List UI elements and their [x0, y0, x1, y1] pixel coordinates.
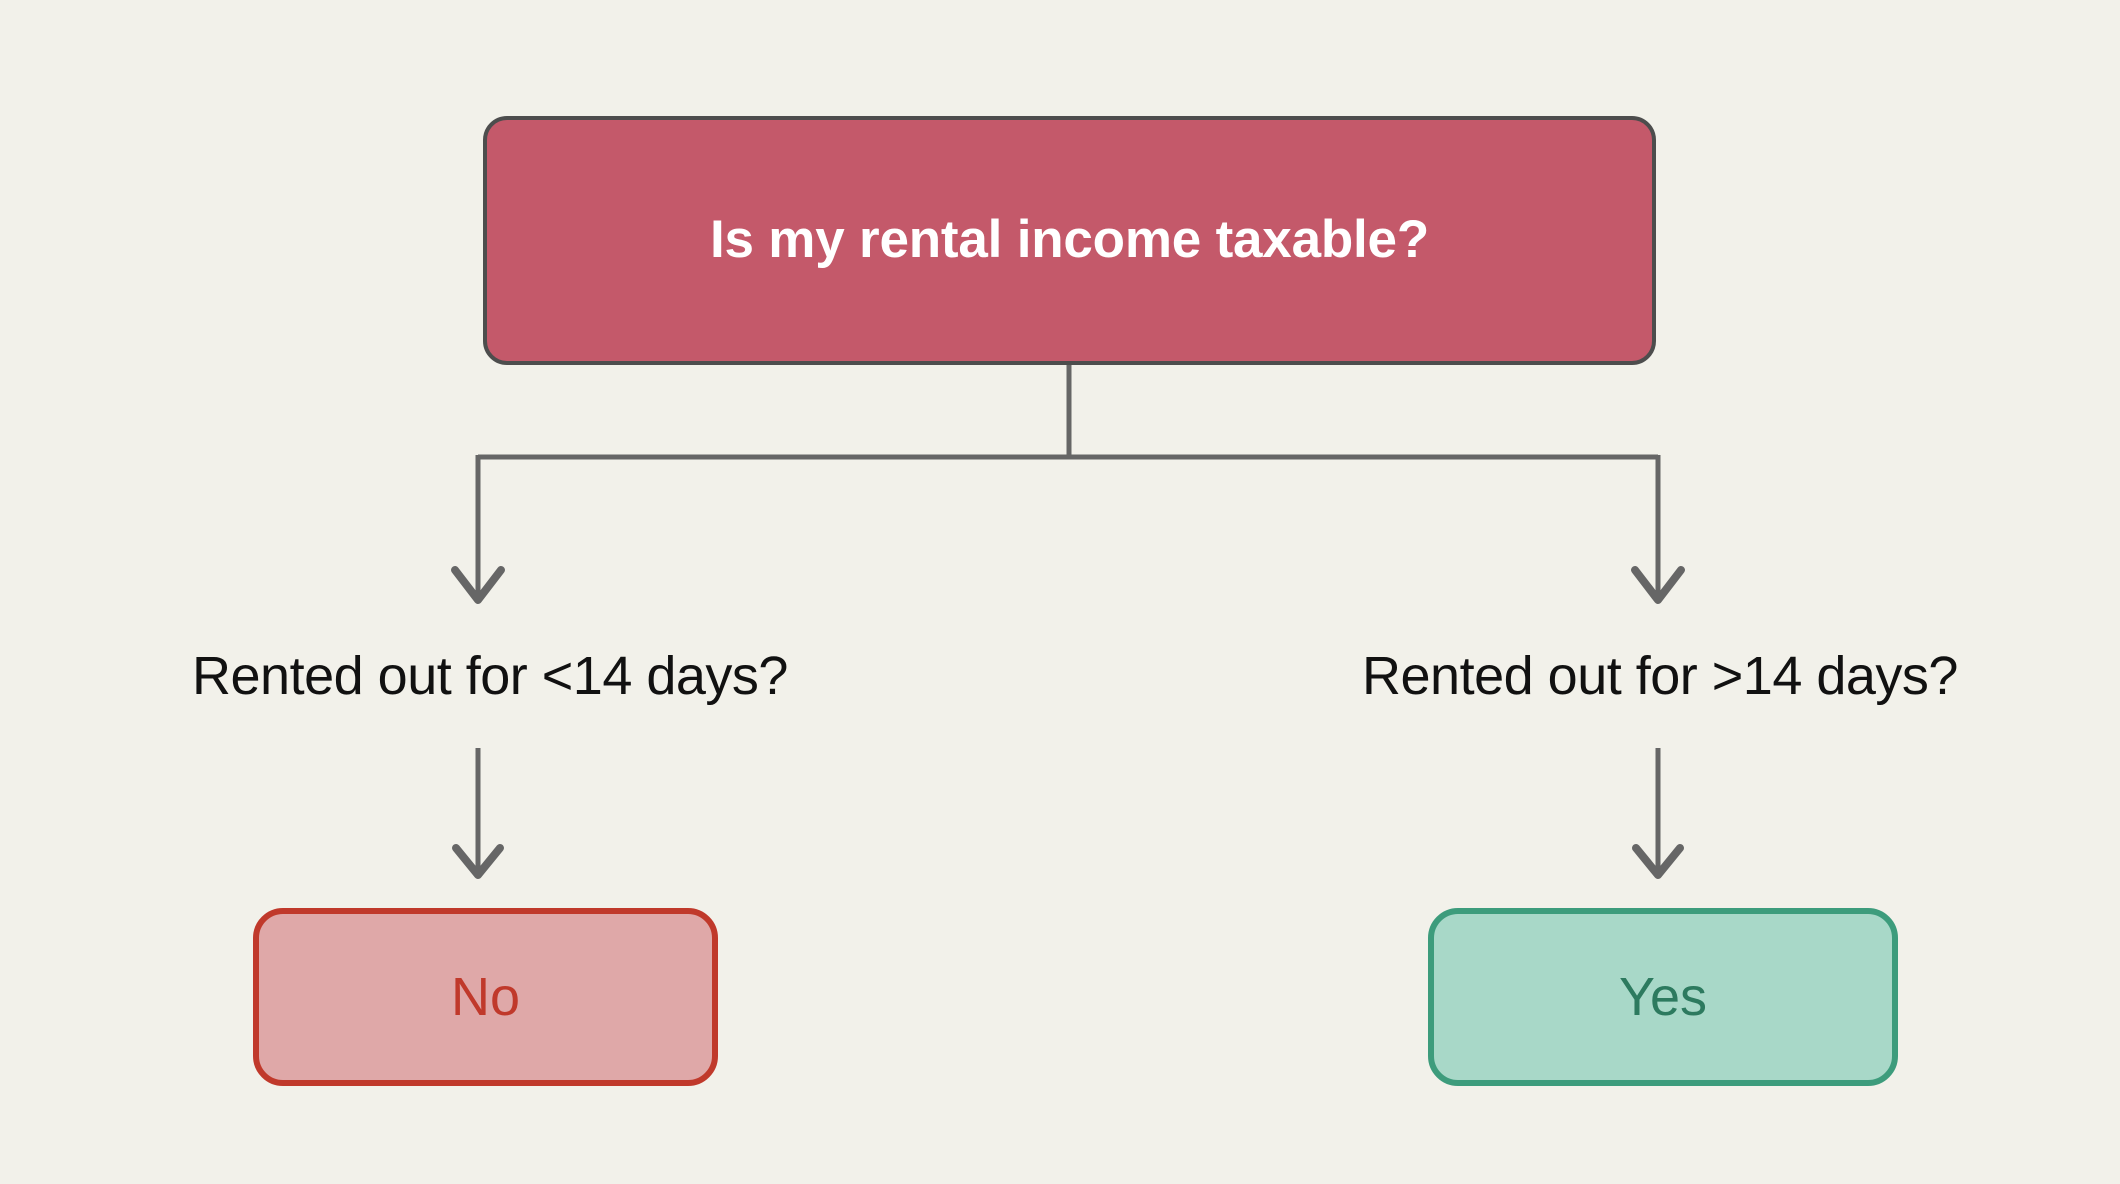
left-condition-label: Rented out for <14 days?	[0, 645, 980, 707]
right-answer-arrowhead-icon	[1636, 848, 1680, 875]
flowchart-canvas: Is my rental income taxable? Rented out …	[0, 0, 2120, 1184]
answer-node-no[interactable]: No	[253, 908, 718, 1086]
question-node[interactable]: Is my rental income taxable?	[483, 116, 1656, 365]
answer-node-no-label: No	[451, 966, 520, 1028]
right-branch-arrowhead-icon	[1635, 570, 1681, 600]
question-node-label: Is my rental income taxable?	[710, 211, 1429, 269]
answer-node-yes[interactable]: Yes	[1428, 908, 1898, 1086]
answer-node-yes-label: Yes	[1619, 966, 1707, 1028]
right-condition-label: Rented out for >14 days?	[1170, 645, 2120, 707]
left-branch-arrowhead-icon	[455, 570, 501, 600]
left-answer-arrowhead-icon	[456, 848, 500, 875]
